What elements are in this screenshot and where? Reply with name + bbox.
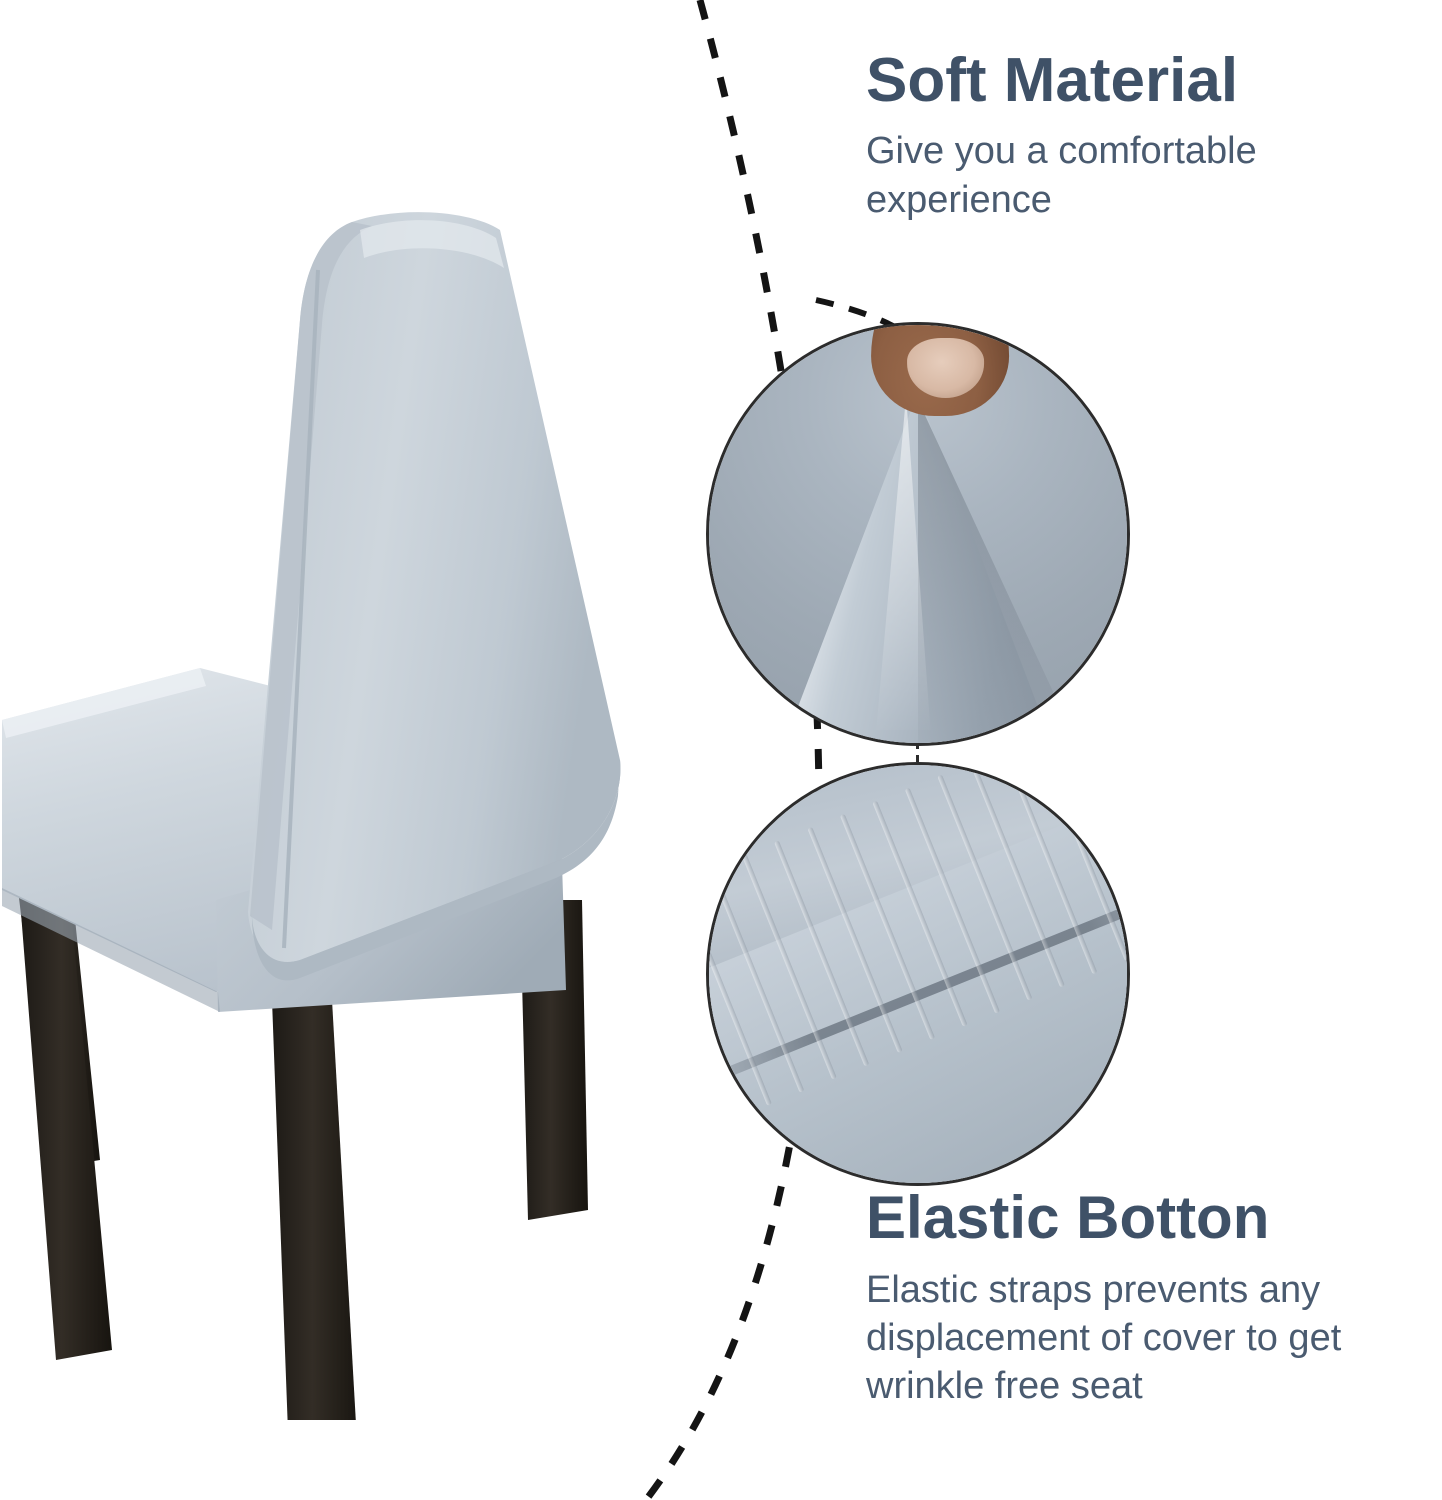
feature-soft-material: Soft Material Give you a comfortable exp…	[866, 48, 1426, 224]
elastic-band-detail-icon	[709, 765, 1127, 1183]
feature-description-soft-material: Give you a comfortable experience	[866, 127, 1426, 224]
feature-elastic-bottom: Elastic Botton Elastic straps prevents a…	[866, 1186, 1432, 1411]
feature-title-soft-material: Soft Material	[866, 48, 1426, 113]
callout-elastic-bottom	[706, 762, 1130, 1186]
feature-title-elastic-bottom: Elastic Botton	[866, 1186, 1432, 1249]
callout-soft-material	[706, 322, 1130, 746]
chair-product-photo	[0, 200, 720, 1420]
infographic-canvas: Soft Material Give you a comfortable exp…	[0, 0, 1442, 1500]
feature-description-elastic-bottom: Elastic straps prevents any displacement…	[866, 1267, 1432, 1411]
fabric-pinch-detail-icon	[709, 325, 1127, 743]
